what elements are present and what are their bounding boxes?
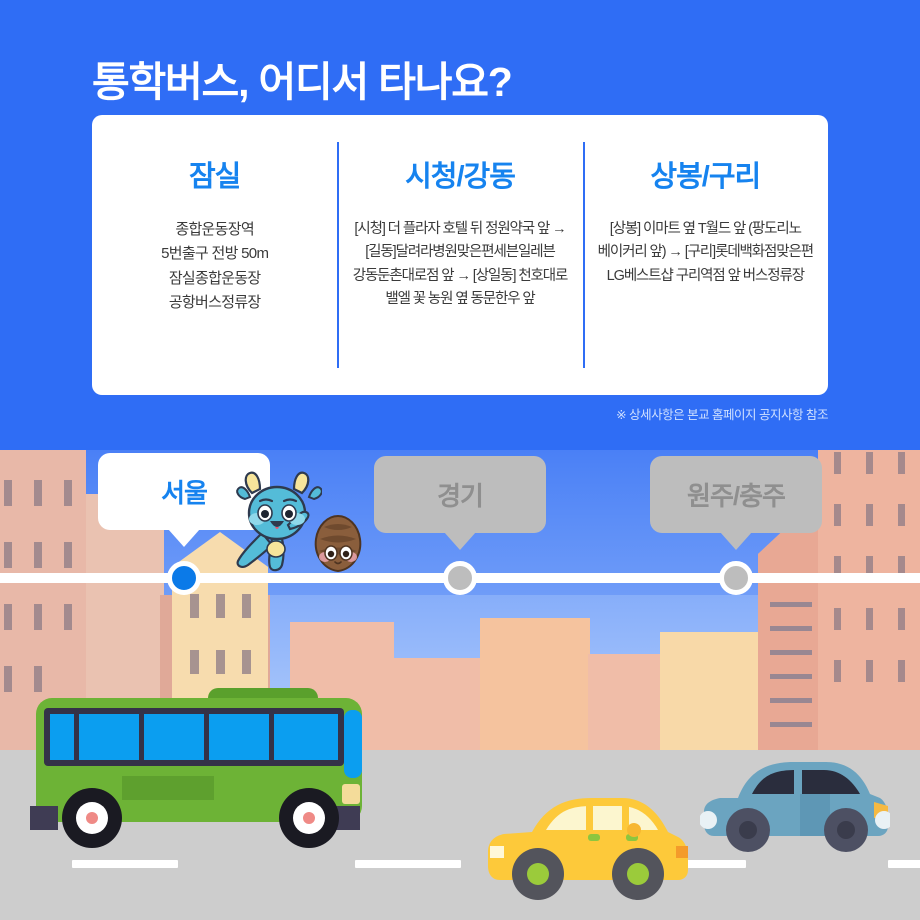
road-dash — [72, 860, 178, 868]
timeline-node-gyeonggi[interactable] — [443, 561, 477, 595]
stop-column-jamsil: 잠실 종합운동장역 5번출구 전방 50m 잠실종합운동장 공항버스정류장 — [92, 115, 337, 395]
stop-column-sangbong-guri: 상봉/구리 [상봉] 이마트 옆 T월드 앞 (팡도리노 베이커리 앞) → [… — [583, 115, 828, 395]
tab-label: 서울 — [161, 478, 207, 508]
timeline-node-seoul[interactable] — [167, 561, 201, 595]
stop-column-title: 상봉/구리 — [650, 163, 760, 192]
tab-wonju-chungju[interactable]: 원주/충주 — [650, 456, 822, 533]
timeline-node-wonju-chungju[interactable] — [719, 561, 753, 595]
tab-label: 경기 — [437, 481, 483, 511]
road-dash — [355, 860, 461, 868]
infographic-stage: 통학버스, 어디서 타나요? 잠실 종합운동장역 5번출구 전방 50m 잠실종… — [0, 0, 920, 920]
building — [660, 632, 768, 750]
building — [388, 658, 484, 750]
stop-column-body: [상봉] 이마트 옆 T월드 앞 (팡도리노 베이커리 앞) → [구리]롯데백… — [593, 218, 818, 288]
tab-gyeonggi[interactable]: 경기 — [374, 456, 546, 533]
brown-pinecone-mascot — [308, 513, 368, 577]
blue-car — [700, 750, 890, 860]
road-dash — [888, 860, 920, 868]
building — [758, 522, 820, 750]
building — [480, 618, 590, 750]
stop-column-title: 잠실 — [189, 163, 240, 192]
cityscape-scene: 서울 경기 원주/충주 — [0, 450, 920, 920]
stop-column-sicheong-gangdong: 시청/강동 [시청] 더 플라자 호텔 뒤 정원약국 앞 → [길동]달려라병원… — [337, 115, 582, 395]
green-city-bus — [22, 658, 382, 858]
stop-column-body: [시청] 더 플라자 호텔 뒤 정원약국 앞 → [길동]달려라병원맞은편세븐일… — [347, 218, 572, 312]
tab-label: 원주/충주 — [687, 481, 785, 511]
stop-column-body: 종합운동장역 5번출구 전방 50m 잠실종합운동장 공항버스정류장 — [161, 218, 268, 315]
bus-stop-info-card: 잠실 종합운동장역 5번출구 전방 50m 잠실종합운동장 공항버스정류장 시청… — [92, 115, 828, 395]
stop-column-title: 시청/강동 — [405, 163, 515, 192]
footnote-text: ※ 상세사항은 본교 홈페이지 공지사항 참조 — [616, 404, 828, 423]
yellow-car — [480, 778, 700, 908]
page-title: 통학버스, 어디서 타나요? — [92, 48, 512, 108]
top-panel: 통학버스, 어디서 타나요? 잠실 종합운동장역 5번출구 전방 50m 잠실종… — [0, 0, 920, 450]
building — [818, 450, 920, 750]
